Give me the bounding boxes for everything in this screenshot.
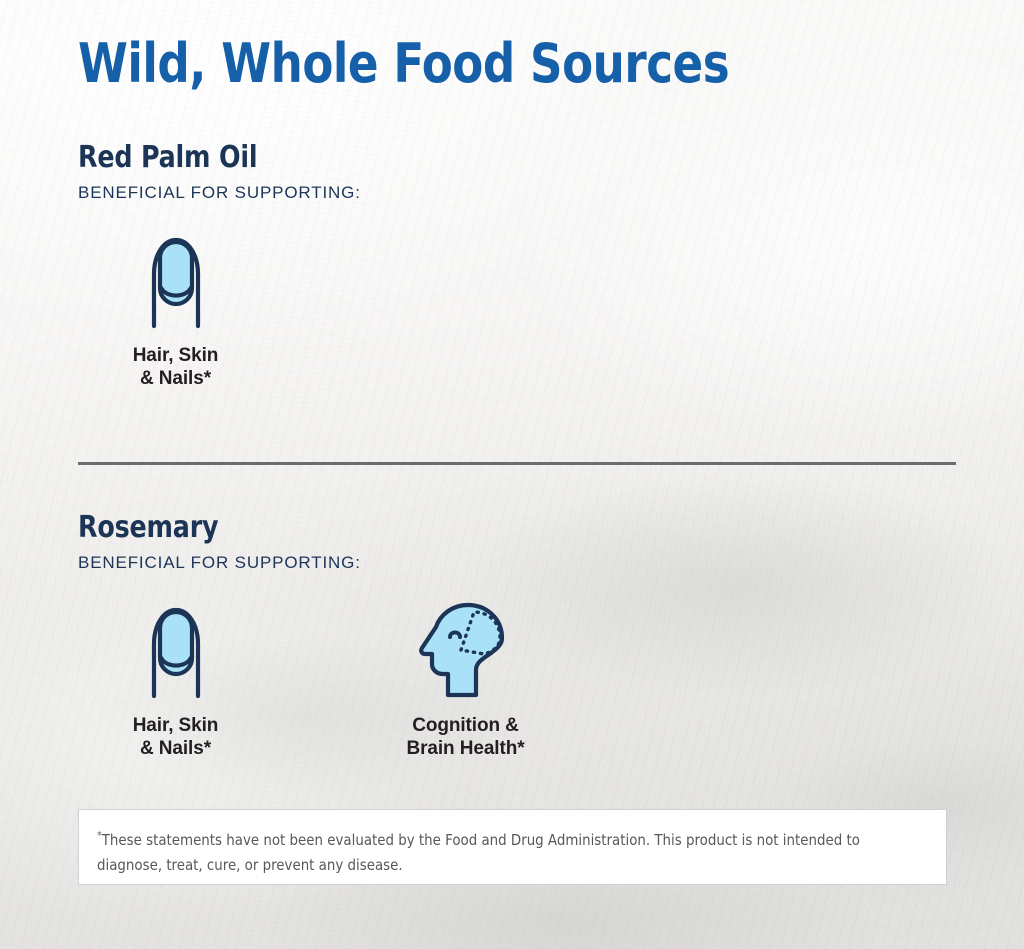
section-subtitle: BENEFICIAL FOR SUPPORTING: — [78, 552, 563, 574]
fingernail-icon — [128, 230, 224, 330]
page-title: Wild, Whole Food Sources — [78, 32, 729, 96]
section-title: Red Palm Oil — [78, 140, 344, 176]
head-brain-icon — [414, 600, 518, 700]
benefit-list: Hair, Skin & Nails* Cognition & Brain He… — [78, 600, 563, 760]
fingernail-icon — [128, 600, 224, 700]
section-subtitle: BENEFICIAL FOR SUPPORTING: — [78, 182, 361, 204]
benefit-list: Hair, Skin & Nails* — [78, 230, 361, 390]
benefit-item: Cognition & Brain Health* — [368, 600, 563, 760]
section-red-palm-oil: Red Palm Oil BENEFICIAL FOR SUPPORTING: … — [78, 140, 361, 390]
disclaimer-body: These statements have not been evaluated… — [97, 831, 860, 874]
section-rosemary: Rosemary BENEFICIAL FOR SUPPORTING: Hair… — [78, 510, 563, 760]
benefit-item: Hair, Skin & Nails* — [78, 600, 273, 760]
benefit-label: Cognition & Brain Health* — [406, 714, 524, 760]
disclaimer-text: *These statements have not been evaluate… — [97, 828, 893, 878]
section-title: Rosemary — [78, 510, 534, 546]
section-divider — [78, 462, 956, 465]
benefit-item: Hair, Skin & Nails* — [78, 230, 273, 390]
benefit-label: Hair, Skin & Nails* — [133, 344, 219, 390]
benefit-label: Hair, Skin & Nails* — [133, 714, 219, 760]
disclaimer-box: *These statements have not been evaluate… — [78, 809, 947, 885]
